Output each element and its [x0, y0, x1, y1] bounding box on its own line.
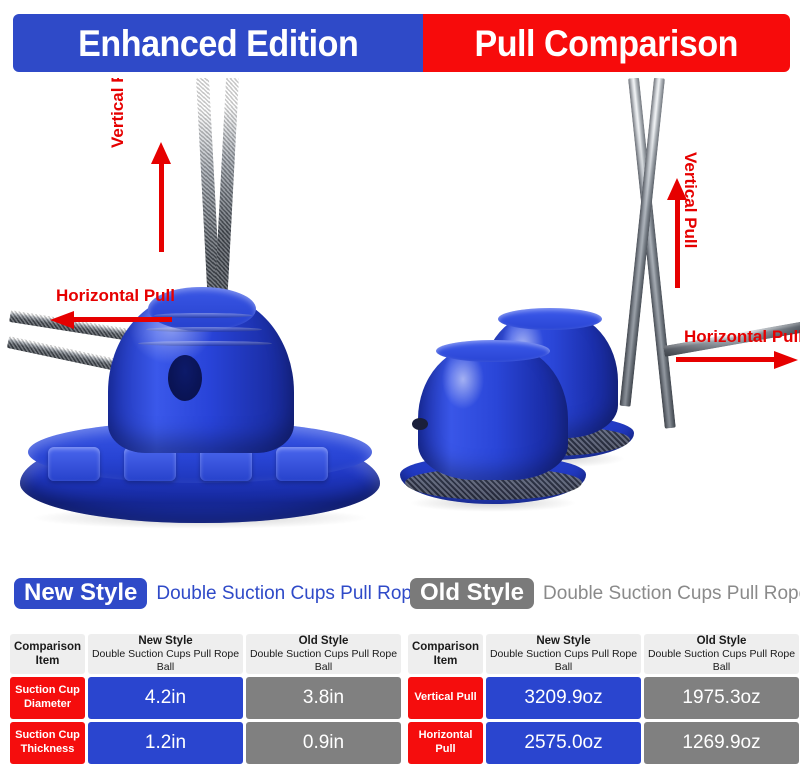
value-new-thickness: 1.2in — [88, 722, 243, 764]
value-new-diameter: 4.2in — [88, 677, 243, 719]
right-horizontal-pull-text: Horizontal Pull — [684, 327, 800, 346]
left-product-rib — [48, 447, 100, 481]
header-cell-comparison-item: Comparison Item — [10, 634, 85, 674]
left-horizontal-pull-label: Horizontal Pull — [56, 286, 175, 306]
new-style-caption: New Style Double Suction Cups Pull Rope … — [14, 578, 460, 609]
right-horizontal-pull-label: Horizontal Pull — [684, 327, 800, 347]
header-cell-new-style: New Style Double Suction Cups Pull Rope … — [486, 634, 641, 674]
banner-left-panel: Enhanced Edition — [13, 14, 423, 72]
row-label-horizontal-pull: Horizontal Pull — [408, 722, 483, 764]
infographic-page: Enhanced Edition Pull Comparison — [0, 0, 800, 745]
right-vertical-pull-text: Vertical Pull — [681, 152, 700, 248]
value-old-vertical-pull: 1975.3oz — [644, 677, 799, 719]
right-horizontal-arrow-head — [774, 351, 798, 369]
left-vertical-pull-text: Vertical Pull — [108, 78, 127, 148]
old-style-badge: Old Style — [410, 578, 534, 609]
left-product-ring — [138, 341, 272, 346]
left-product-rib — [276, 447, 328, 481]
value-old-diameter: 3.8in — [246, 677, 401, 719]
table-row: Suction Cup Diameter 4.2in 3.8in — [10, 677, 401, 719]
left-horizontal-arrow-head — [50, 311, 74, 329]
row-label-vertical-pull: Vertical Pull — [408, 677, 483, 719]
new-style-badge: New Style — [14, 578, 147, 609]
header-cell-new-style: New Style Double Suction Cups Pull Rope … — [88, 634, 243, 674]
banner-right-panel: Pull Comparison — [423, 14, 790, 72]
right-product-nub — [412, 418, 428, 430]
header-cell-old-style: Old Style Double Suction Cups Pull Rope … — [246, 634, 401, 674]
left-horizontal-pull-text: Horizontal Pull — [56, 286, 175, 305]
left-horizontal-arrow-shaft — [72, 317, 172, 322]
header-cell-old-style: Old Style Double Suction Cups Pull Rope … — [644, 634, 799, 674]
value-old-horizontal-pull: 1269.9oz — [644, 722, 799, 764]
product-photo-stage: Vertical Pull Horizontal Pull — [0, 78, 800, 558]
left-product-ring — [146, 327, 262, 332]
left-vertical-pull-label: Vertical Pull — [108, 78, 128, 148]
row-label-suction-cup-thickness: Suction Cup Thickness — [10, 722, 85, 764]
right-horizontal-arrow-shaft — [676, 357, 776, 362]
value-old-thickness: 0.9in — [246, 722, 401, 764]
old-style-caption: Old Style Double Suction Cups Pull Rope … — [410, 578, 800, 609]
banner-right-text: Pull Comparison — [475, 25, 739, 62]
right-vertical-arrow-shaft — [675, 196, 680, 288]
right-product-cup-front — [418, 344, 568, 506]
header-banner: Enhanced Edition Pull Comparison — [13, 14, 790, 72]
row-label-suction-cup-diameter: Suction Cup Diameter — [10, 677, 85, 719]
left-vertical-arrow-shaft — [159, 160, 164, 252]
old-style-description: Double Suction Cups Pull Rope Ball — [543, 583, 800, 605]
left-product-rope-hole — [168, 355, 202, 401]
table-row: Vertical Pull 3209.9oz 1975.3oz — [408, 677, 799, 719]
header-cell-comparison-item: Comparison Item — [408, 634, 483, 674]
right-vertical-pull-label: Vertical Pull — [680, 152, 700, 248]
value-new-vertical-pull: 3209.9oz — [486, 677, 641, 719]
table-row: Suction Cup Thickness 1.2in 0.9in — [10, 722, 401, 764]
table-row: Horizontal Pull 2575.0oz 1269.9oz — [408, 722, 799, 764]
table-header-row: Comparison Item New Style Double Suction… — [408, 634, 799, 674]
banner-left-text: Enhanced Edition — [78, 25, 358, 62]
value-new-horizontal-pull: 2575.0oz — [486, 722, 641, 764]
table-header-row: Comparison Item New Style Double Suction… — [10, 634, 401, 674]
left-vertical-arrow-head — [151, 142, 171, 164]
new-style-suction-cup-product — [20, 293, 380, 523]
right-vertical-arrow-head — [667, 178, 687, 200]
